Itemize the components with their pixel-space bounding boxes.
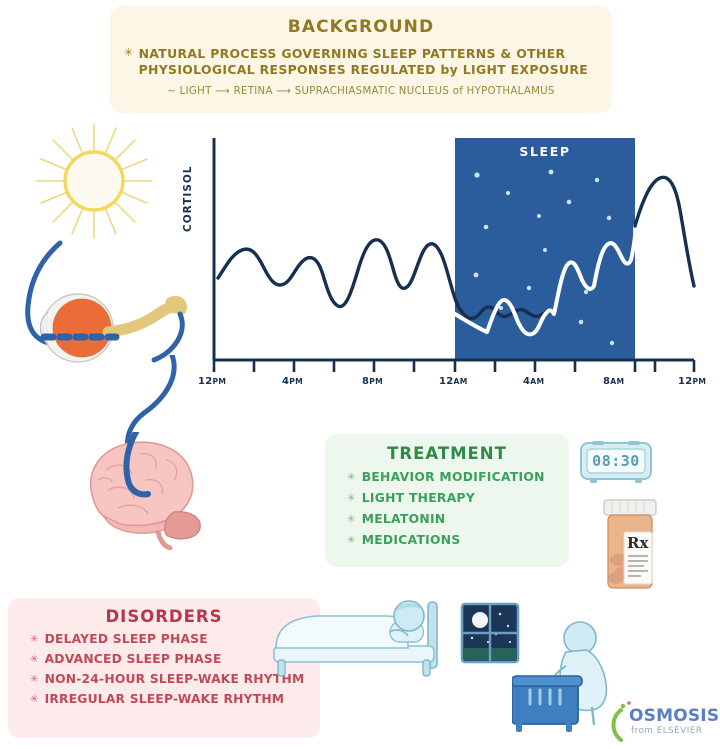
brain-cerebellum (165, 512, 201, 539)
bed-blanket (276, 616, 408, 648)
disorder-item-label: IRREGULAR SLEEP-WAKE RHYTHM (45, 692, 285, 706)
cortisol-curve-morning (635, 177, 694, 286)
xtick-4pm: 4PM (282, 376, 303, 387)
bullet-star-icon: ✳ (30, 634, 39, 645)
xtick-8am: 8AM (603, 376, 624, 387)
chart-svg (182, 130, 702, 400)
nerve-signal-line (154, 314, 182, 360)
xtick-4am: 4AM (523, 376, 544, 387)
background-bullet-text: NATURAL PROCESS GOVERNING SLEEP PATTERNS… (139, 46, 589, 79)
bullet-star-icon: ✳ (347, 514, 356, 525)
treatment-item-label: BEHAVIOR MODIFICATION (362, 470, 545, 484)
bullet-star-icon: ✳ (30, 694, 39, 705)
disorder-item: ✳ IRREGULAR SLEEP-WAKE RHYTHM (30, 692, 320, 706)
digital-clock-icon: 08:30 (578, 440, 654, 484)
person-sitting-on-bed-icon (512, 618, 622, 738)
treatment-item: ✳ BEHAVIOR MODIFICATION (347, 470, 569, 484)
pill-bottle-icon: Rx (594, 498, 666, 590)
bullet-star-icon: ✳ (124, 46, 134, 61)
rx-label: Rx (627, 534, 648, 552)
sitting-person-head (564, 622, 596, 654)
sun-disc (65, 152, 123, 210)
xtick-12pm-end: 12PM (678, 376, 706, 387)
treatment-item-label: MEDICATIONS (362, 533, 461, 547)
treatment-item-label: LIGHT THERAPY (362, 491, 475, 505)
background-bullet-line2: PHYSIOLOGICAL RESPONSES REGULATED by LIG… (139, 62, 589, 77)
cortisol-curve-day (218, 240, 458, 307)
treatment-title: TREATMENT (325, 444, 569, 463)
treatment-item: ✳ MELATONIN (347, 512, 569, 526)
person-sleeping-in-bed-icon (268, 598, 458, 688)
brain-icon (62, 432, 212, 550)
x-ticks (214, 360, 694, 372)
cortisol-chart: SLEEP 12PM 4PM 8PM 12AM 4AM 8AM 12PM (182, 130, 702, 400)
clock-time-text: 08:30 (587, 452, 645, 470)
osmosis-logo: OSMOSIS from ELSEVIER (607, 700, 713, 744)
treatment-item: ✳ LIGHT THERAPY (347, 491, 569, 505)
logo-wordmark: OSMOSIS (629, 706, 719, 726)
background-card: BACKGROUND ✳ NATURAL PROCESS GOVERNING S… (110, 6, 612, 113)
y-axis-label: CORTISOL (182, 166, 194, 233)
background-subline: ~ LIGHT ⟶ RETINA ⟶ SUPRACHIASMATIC NUCLE… (110, 86, 612, 97)
sleep-band-label: SLEEP (455, 144, 635, 159)
background-bullet: ✳ NATURAL PROCESS GOVERNING SLEEP PATTER… (124, 46, 612, 79)
background-title: BACKGROUND (110, 17, 612, 37)
disorder-item-label: DELAYED SLEEP PHASE (45, 632, 208, 646)
xtick-12am: 12AM (439, 376, 468, 387)
moon-icon (472, 612, 488, 628)
disorder-item-label: ADVANCED SLEEP PHASE (45, 652, 222, 666)
bullet-star-icon: ✳ (347, 472, 356, 483)
bullet-star-icon: ✳ (347, 535, 356, 546)
background-bullet-line1: NATURAL PROCESS GOVERNING SLEEP PATTERNS… (139, 46, 566, 61)
bullet-star-icon: ✳ (347, 493, 356, 504)
treatment-item: ✳ MEDICATIONS (347, 533, 569, 547)
logo-swoosh (614, 710, 622, 740)
sun-icon (18, 122, 170, 240)
night-window-icon (460, 602, 520, 664)
disorder-item-label: NON-24-HOUR SLEEP-WAKE RHYTHM (45, 672, 305, 686)
nightstand-top (512, 676, 582, 686)
treatment-card: TREATMENT ✳ BEHAVIOR MODIFICATION ✳ LIGH… (325, 434, 569, 567)
optic-nerve (108, 307, 176, 332)
bullet-star-icon: ✳ (30, 674, 39, 685)
bullet-star-icon: ✳ (30, 654, 39, 665)
xtick-12pm: 12PM (198, 376, 226, 387)
treatment-item-label: MELATONIN (362, 512, 446, 526)
xtick-8pm: 8PM (362, 376, 383, 387)
logo-subtext: from ELSEVIER (631, 726, 702, 736)
